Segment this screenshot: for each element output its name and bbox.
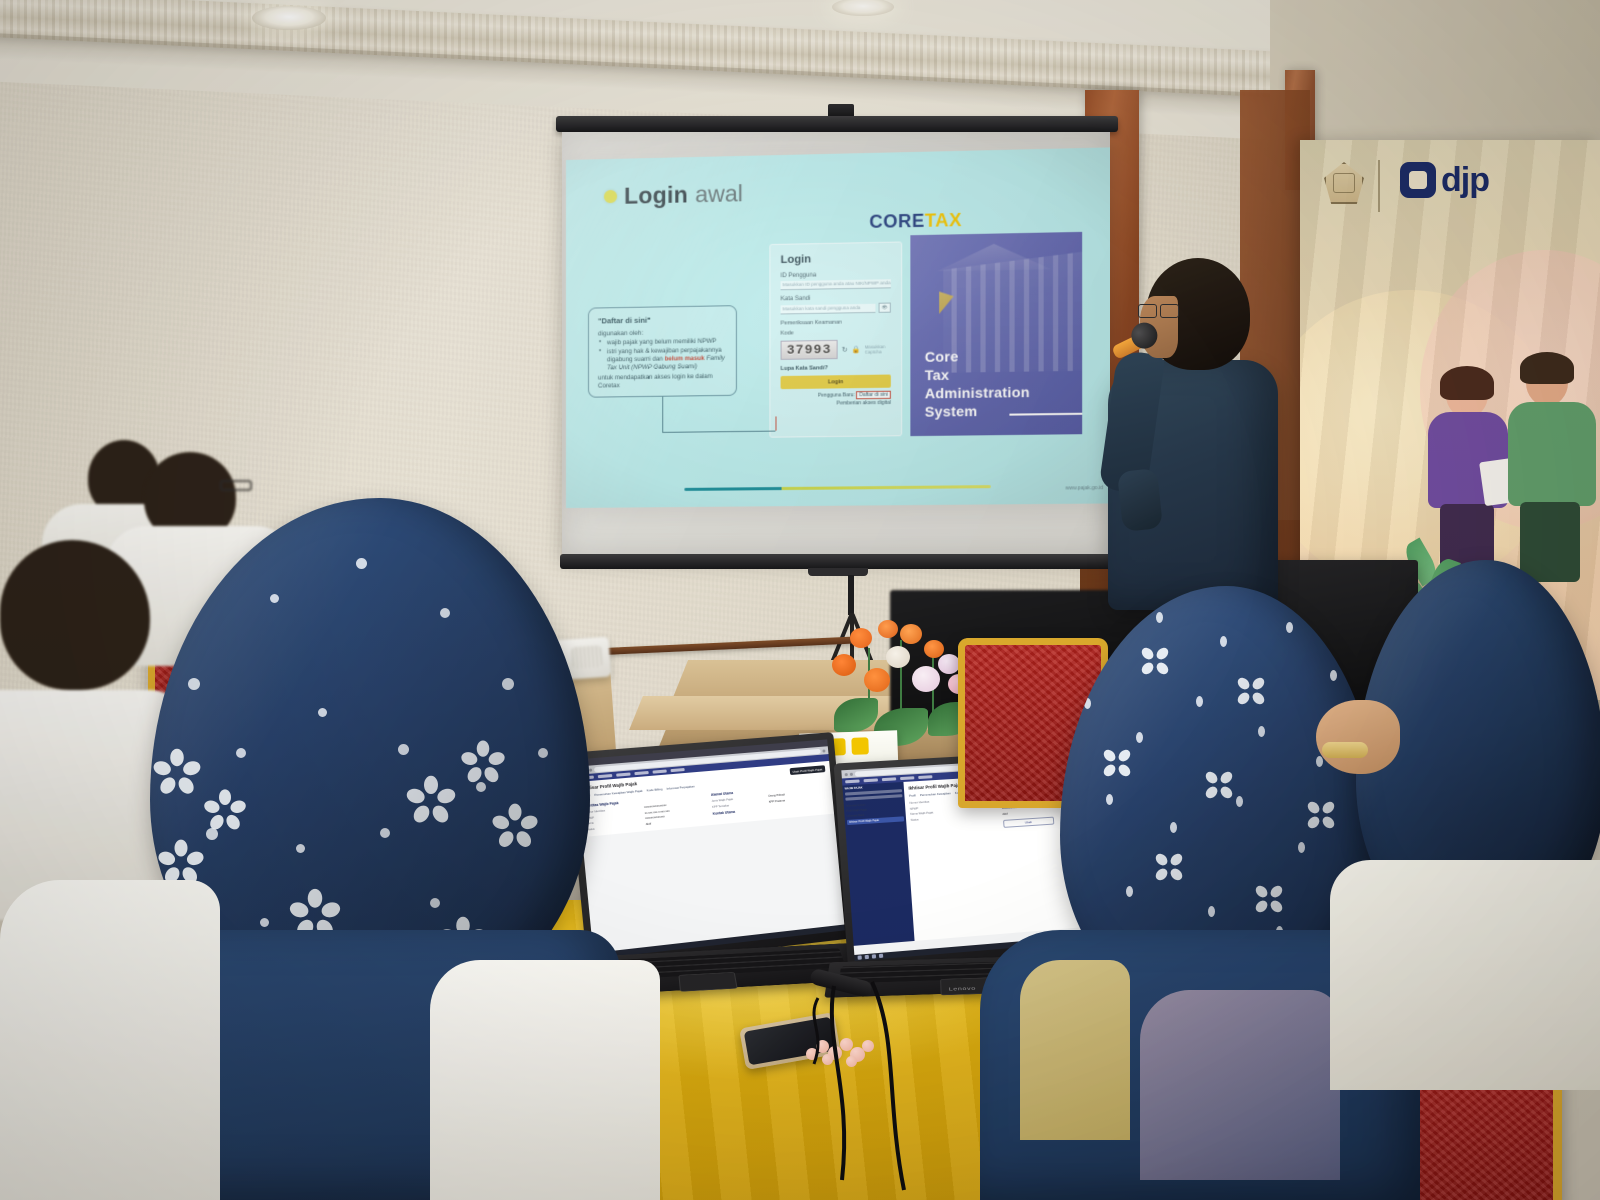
nav-item[interactable] <box>882 778 896 781</box>
presentation-slide: Login awal CORETAX Login ID Pengguna Mas… <box>566 147 1110 508</box>
black-audio-cables <box>812 980 952 1200</box>
brand-line-1: Core <box>925 347 1030 367</box>
tab-profil[interactable]: Profil <box>909 793 916 797</box>
screen-top-bar <box>556 116 1118 132</box>
coretax-logo-core: CORE <box>869 211 924 232</box>
coretax-logo: CORETAX <box>869 210 962 233</box>
seminar-room-photo: djp Login aw <box>0 0 1600 1200</box>
callout-bullets: wajib pajak yang belum memiliki NPWP ist… <box>598 338 727 373</box>
start-icon[interactable] <box>857 955 861 959</box>
shawl-gold-accent <box>1020 960 1130 1140</box>
taskbar-app-icon[interactable] <box>865 955 869 959</box>
ceiling-light-icon <box>252 6 326 30</box>
captcha-note: Masukkan Captcha <box>865 344 891 355</box>
nav-item[interactable] <box>598 774 613 778</box>
callout-bullet-2: istri yang hak & kewajiban perpajakannya… <box>598 347 727 373</box>
password-label: Kata Sandi <box>781 294 891 302</box>
nav-item[interactable] <box>616 773 630 777</box>
user-id-input[interactable]: Masukkan ID pengguna anda atau NIK/NPWP … <box>781 279 891 290</box>
screen-surface: Login awal CORETAX Login ID Pengguna Mas… <box>562 132 1110 556</box>
banner-divider <box>1378 160 1380 212</box>
nav-item[interactable] <box>864 779 878 782</box>
portal-sidebar[interactable]: WAJIB PAJAK Informasi Umum Profil Wajib … <box>842 782 914 946</box>
slide-footer-url: www.pajak.go.id <box>1065 485 1103 491</box>
portal-columns: Identitas Wajib Pajak Nomor Identitasxxx… <box>584 780 829 833</box>
nav-item[interactable] <box>900 777 914 780</box>
lock-icon: 🔒 <box>852 345 861 353</box>
brand-panel-text: Core Tax Administration System <box>925 347 1030 421</box>
brand-line-2: Tax <box>925 366 1030 386</box>
laptop-left-lid: Ubah Profil Wajib Pajak Ikhtisar Profil … <box>567 732 853 969</box>
portal-column-right: Alamat Utama Jenis Wajib PajakOrang Prib… <box>710 780 829 821</box>
callout-emphasis: belum masuk <box>665 355 705 363</box>
slide-title-strong: Login <box>624 181 688 209</box>
building-roof-illustration <box>937 243 1051 272</box>
projector-screen: Login awal CORETAX Login ID Pengguna Mas… <box>556 116 1118 586</box>
eyeglasses-icon <box>1138 304 1180 317</box>
digital-access-link[interactable]: Pemberian akses digital <box>781 400 891 407</box>
login-submit-button[interactable]: Login <box>781 375 891 390</box>
slide-footer-rule <box>684 485 990 491</box>
brand-line-4: System <box>925 402 1030 422</box>
brand-panel-rule <box>1009 413 1082 416</box>
brand-line-3: Administration <box>925 384 1030 404</box>
tab-billing[interactable]: Kode Billing <box>646 787 662 792</box>
captcha-row: 37993 ↻ 🔒 Masukkan Captcha <box>781 339 891 360</box>
register-link[interactable]: Daftar di sini <box>856 391 891 400</box>
tab-informasi[interactable]: Informasi Perpajakan <box>666 784 695 790</box>
captcha-hint: Kode <box>781 329 891 337</box>
field-key: Status <box>911 815 951 822</box>
ubah-button[interactable]: Ubah <box>1003 816 1054 827</box>
bullet-dot-icon <box>604 190 617 203</box>
sidebar-item-active[interactable]: Ikhtisar Profil Wajib Pajak <box>847 816 904 825</box>
security-check-label: Pemeriksaan Keamanan <box>781 319 891 327</box>
laptop-left-touchpad[interactable] <box>678 972 737 992</box>
portal-column-left: Identitas Wajib Pajak Nomor Identitasxxx… <box>584 790 708 832</box>
shawl-pink-accent <box>1140 990 1340 1180</box>
djp-square-icon <box>1400 162 1436 198</box>
nav-item[interactable] <box>671 768 685 772</box>
djp-wordmark: djp <box>1441 166 1489 195</box>
callout-tail: untuk mendapatkan akses login ke dalam C… <box>598 372 727 390</box>
nav-item[interactable] <box>845 780 860 783</box>
djp-logo: djp <box>1400 162 1489 198</box>
laptop-brand-label: Lenovo <box>949 987 976 992</box>
taskbar-app-icon[interactable] <box>879 954 883 958</box>
taskbar-app-icon[interactable] <box>872 954 876 958</box>
browser-reload-icon[interactable] <box>589 768 592 771</box>
nav-item[interactable] <box>918 775 932 778</box>
wristwatch <box>1322 742 1368 758</box>
tripod-pole <box>848 575 854 615</box>
slide-title-light: awal <box>695 180 743 208</box>
login-card-heading: Login <box>781 252 891 266</box>
coretax-logo-tax: TAX <box>925 210 962 231</box>
attendee-hand <box>1316 700 1400 774</box>
callout-title: "Daftar di sini" <box>598 314 727 325</box>
tab-pemenuhan[interactable]: Pemenuhan Kewajiban <box>920 791 951 797</box>
callout-lead: digunakan oleh: <box>598 328 727 337</box>
refresh-icon[interactable]: ↻ <box>842 345 848 353</box>
user-id-label: ID Pengguna <box>781 271 891 279</box>
browser-forward-icon[interactable] <box>850 772 853 775</box>
nav-item[interactable] <box>634 771 648 775</box>
eyeglasses-icon <box>220 480 252 491</box>
presenter-hand-area <box>1117 468 1163 532</box>
slide-title: Login awal <box>604 180 743 210</box>
new-user-row: Pengguna Baru: Daftar di sini <box>781 392 891 400</box>
laptop-left-screen[interactable]: Ubah Profil Wajib Pajak Ikhtisar Profil … <box>574 739 844 959</box>
captcha-image: 37993 <box>781 340 838 360</box>
password-row: Masukkan kata sandi pengguna anda 👁 <box>781 303 891 315</box>
slide-brand-panel: Core Tax Administration System <box>910 232 1082 436</box>
new-user-prefix: Pengguna Baru: <box>818 392 855 399</box>
callout-connector-line <box>662 395 775 433</box>
attendee-plain-hijab-outfit <box>1330 860 1600 1090</box>
eye-icon[interactable]: 👁 <box>879 303 891 313</box>
browser-back-icon[interactable] <box>845 773 848 776</box>
attendee-white-sleeve <box>430 960 660 1200</box>
password-input[interactable]: Masukkan kata sandi pengguna anda <box>781 303 876 314</box>
slide-callout-box: "Daftar di sini" digunakan oleh: wajib p… <box>588 305 737 398</box>
projector-vent <box>571 645 602 669</box>
screen-pull-tab[interactable] <box>808 568 868 576</box>
attendee-white-shirt-foreground <box>0 880 220 1200</box>
slide-login-card: Login ID Pengguna Masukkan ID pengguna a… <box>769 241 902 437</box>
forgot-password-link[interactable]: Lupa Kata Sandi? <box>781 364 891 372</box>
nav-item[interactable] <box>653 770 667 774</box>
browser-menu-icon[interactable] <box>822 749 825 752</box>
screen-bottom-bar <box>560 554 1112 569</box>
